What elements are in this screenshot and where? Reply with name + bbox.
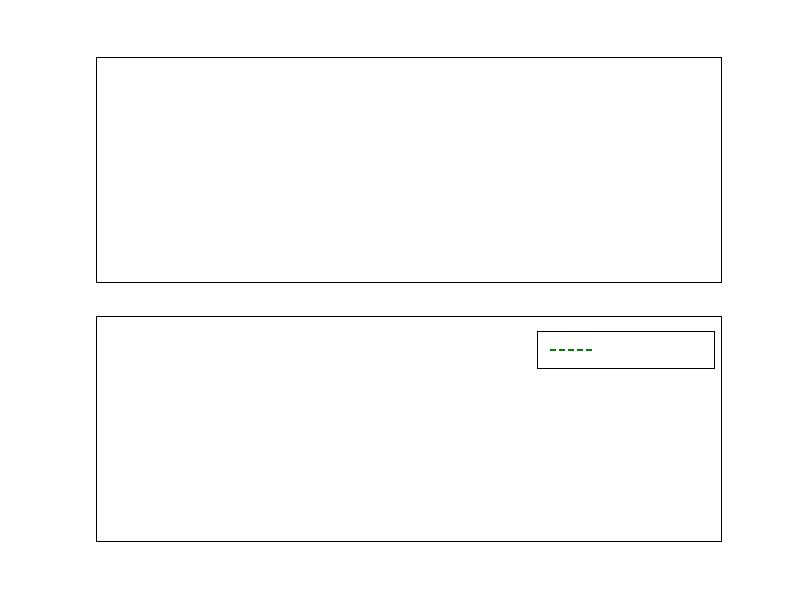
top-histogram-plot (97, 58, 721, 282)
mag-limit-line-icon (550, 349, 592, 351)
top-histogram-axes (96, 57, 722, 283)
legend (537, 331, 715, 369)
figure-canvas (0, 0, 800, 600)
